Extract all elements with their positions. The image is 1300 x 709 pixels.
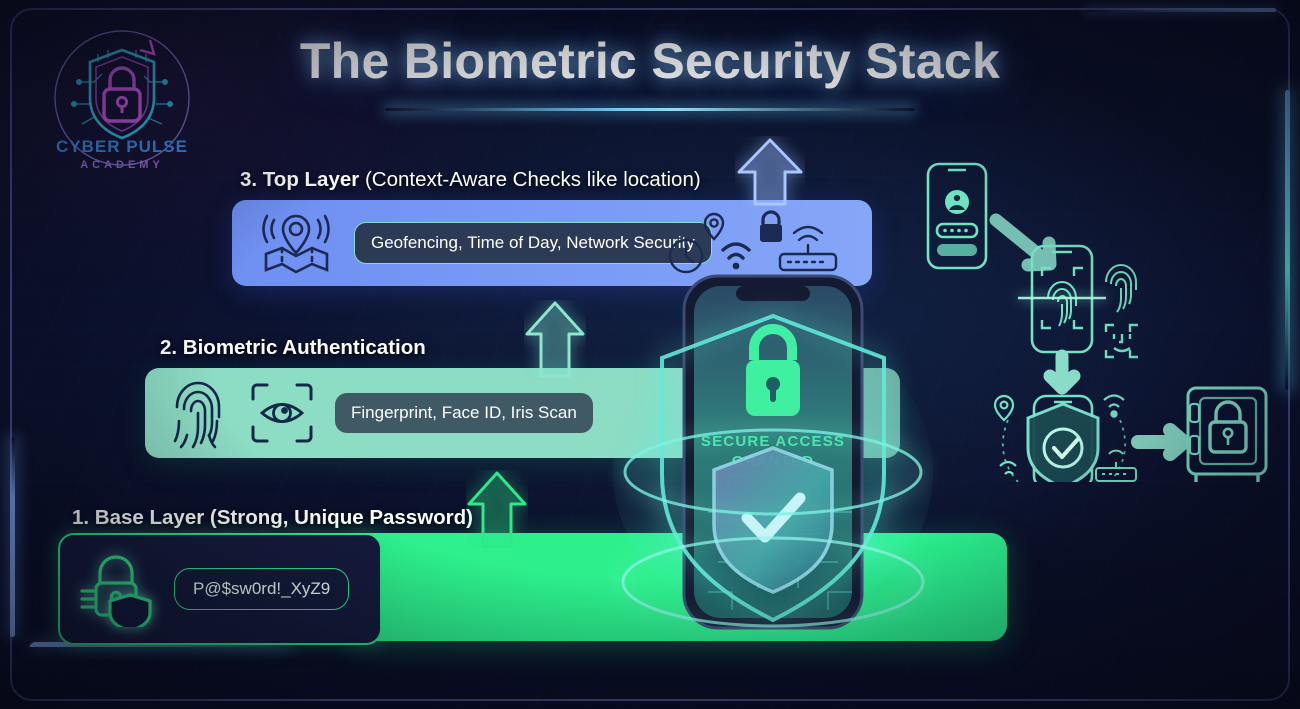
layer-3-chip: Geofencing, Time of Day, Network Securit… bbox=[354, 222, 712, 264]
layer-1-band-dark[interactable]: P@$sw0rd!_XyZ9 bbox=[58, 533, 382, 645]
wifi-icon bbox=[1104, 396, 1124, 417]
layer-3-label-bold: 3. Top Layer bbox=[240, 168, 359, 191]
layer-3-label-rest: (Context-Aware Checks like location) bbox=[365, 168, 701, 191]
phone-fingerprint-scan-icon bbox=[1018, 246, 1106, 352]
page-title: The Biometric Security Stack bbox=[0, 32, 1300, 90]
arrow-diagonal-down-right bbox=[996, 220, 1050, 265]
frame-accent-top-right bbox=[1086, 8, 1276, 12]
arrow-up-top bbox=[735, 136, 805, 206]
layer-1-chip: P@$sw0rd!_XyZ9 bbox=[174, 568, 349, 610]
arrow-right bbox=[1138, 430, 1184, 454]
location-pin-icon bbox=[995, 396, 1013, 420]
fingerprint-icon bbox=[1106, 265, 1136, 312]
face-id-icon bbox=[1106, 325, 1138, 357]
safe-vault-lock-icon bbox=[1188, 388, 1266, 482]
arrow-up-low bbox=[466, 470, 528, 548]
layer-2-chip: Fingerprint, Face ID, Iris Scan bbox=[335, 393, 593, 433]
layer-3-label: 3. Top Layer (Context-Aware Checks like … bbox=[240, 168, 701, 192]
central-phone-graphic: SECURE ACCESS GRANTED bbox=[608, 262, 938, 662]
frame-accent-right bbox=[1285, 90, 1290, 390]
phone-login-icon bbox=[928, 164, 986, 268]
arrow-up-mid bbox=[524, 300, 586, 378]
brand-name-line2: ACADEMY bbox=[80, 159, 164, 171]
title-underline bbox=[385, 108, 915, 111]
layer-2-label: 2. Biometric Authentication bbox=[160, 336, 426, 360]
phone-shield-context-icon bbox=[1003, 396, 1125, 482]
authentication-flow-diagram bbox=[900, 152, 1270, 482]
padlock-icon bbox=[760, 212, 782, 242]
frame-accent-bottom-left bbox=[10, 437, 15, 637]
map-location-signal-icon bbox=[254, 210, 338, 276]
router-icon bbox=[1096, 451, 1136, 481]
infographic-canvas: CYBER PULSE ACADEMY The Biometric Securi… bbox=[0, 0, 1300, 709]
location-pin-icon bbox=[705, 214, 723, 239]
brand-name-line1: CYBER PULSE bbox=[56, 137, 188, 156]
arrow-down bbox=[1050, 356, 1074, 388]
fingerprint-icon bbox=[167, 377, 229, 449]
eye-scan-icon bbox=[249, 381, 315, 445]
padlock-shield-key-icon bbox=[78, 551, 156, 627]
layer-1-label: 1. Base Layer (Strong, Unique Password) bbox=[72, 506, 473, 530]
